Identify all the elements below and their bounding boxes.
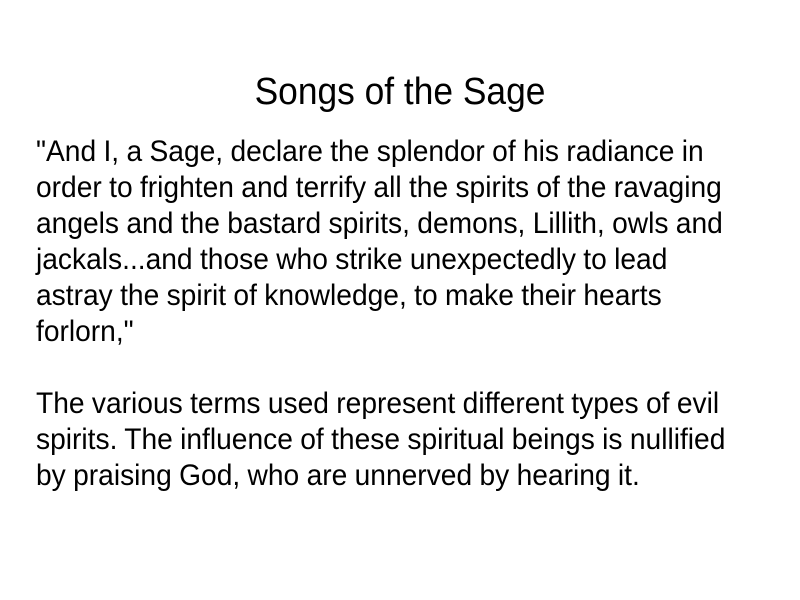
page-title: Songs of the Sage	[28, 69, 772, 115]
paragraph-spacer	[36, 350, 760, 386]
slide-body-text: "And I, a Sage, declare the splendor of …	[36, 134, 760, 494]
presentation-slide: Songs of the Sage "And I, a Sage, declar…	[0, 0, 800, 600]
commentary-paragraph: The various terms used represent differe…	[36, 386, 727, 494]
quotation-paragraph: "And I, a Sage, declare the splendor of …	[36, 134, 727, 350]
